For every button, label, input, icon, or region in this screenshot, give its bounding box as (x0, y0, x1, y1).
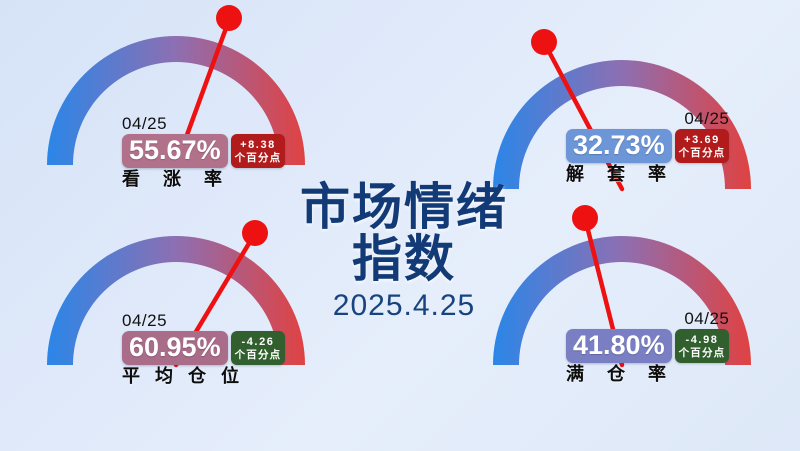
readout-value: 41.80% (566, 329, 672, 363)
readout-value: 32.73% (566, 129, 672, 163)
delta-number: -4.26 (241, 336, 274, 349)
gauge-needle-knob (242, 220, 268, 246)
delta-number: -4.98 (685, 334, 718, 347)
readout-value: 55.67% (122, 134, 228, 168)
readout-label: 满 仓 率 (566, 364, 675, 385)
readout-date: 04/25 (684, 110, 729, 127)
readout-delta-badge: +8.38 个百分点 (231, 134, 286, 168)
readout-label: 解 套 率 (566, 164, 675, 185)
gauge-needle-knob (572, 205, 598, 231)
poster-canvas: 04/25 55.67% +8.38 个百分点 看 涨 率 04/25 32.7… (0, 0, 800, 451)
gauge-needle-knob (216, 5, 242, 31)
delta-unit: 个百分点 (679, 347, 726, 359)
readout-date: 04/25 (122, 115, 167, 132)
readout-date: 04/25 (122, 312, 167, 329)
delta-number: +3.69 (684, 134, 720, 147)
readout-date: 04/25 (684, 310, 729, 327)
delta-number: +8.38 (240, 139, 276, 152)
readout-delta-badge: -4.98 个百分点 (675, 329, 730, 363)
delta-unit: 个百分点 (235, 152, 282, 164)
delta-unit: 个百分点 (679, 147, 726, 159)
readout-row: 32.73% +3.69 个百分点 (566, 129, 729, 163)
readout-label: 看 涨 率 (122, 169, 231, 190)
readout-average-position: 04/25 60.95% -4.26 个百分点 平 均 仓 位 (122, 312, 285, 387)
readout-delta-badge: -4.26 个百分点 (231, 331, 286, 365)
readout-delta-badge: +3.69 个百分点 (675, 129, 730, 163)
readout-row: 41.80% -4.98 个百分点 (566, 329, 729, 363)
readout-unwind-rate: 04/25 32.73% +3.69 个百分点 解 套 率 (566, 110, 729, 185)
readout-value: 60.95% (122, 331, 228, 365)
readout-label: 平 均 仓 位 (122, 366, 244, 387)
gauge-needle-knob (531, 29, 557, 55)
readout-bullish-rate: 04/25 55.67% +8.38 个百分点 看 涨 率 (122, 115, 285, 190)
delta-unit: 个百分点 (235, 349, 282, 361)
readout-full-position-rate: 04/25 41.80% -4.98 个百分点 满 仓 率 (566, 310, 729, 385)
readout-row: 60.95% -4.26 个百分点 (122, 331, 285, 365)
readout-row: 55.67% +8.38 个百分点 (122, 134, 285, 168)
